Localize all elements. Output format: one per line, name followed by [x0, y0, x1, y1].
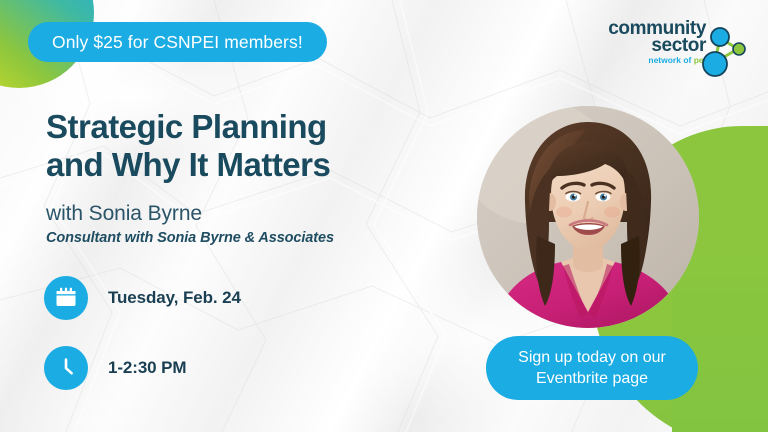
calendar-icon — [44, 276, 88, 320]
logo-network-of-text: network of — [648, 55, 693, 65]
speaker-portrait-photo — [477, 106, 699, 328]
page-title: Strategic Planning and Why It Matters — [46, 108, 446, 185]
csnpei-logo: community sector network of pei — [598, 20, 750, 82]
clock-icon — [44, 346, 88, 390]
cta-line-1: Sign up today on our — [518, 347, 666, 368]
event-date-text: Tuesday, Feb. 24 — [108, 288, 241, 308]
headline-line-2: and Why It Matters — [46, 146, 446, 184]
price-badge-label: Only $25 for CSNPEI members! — [52, 32, 303, 53]
speaker-name: with Sonia Byrne — [46, 202, 202, 226]
network-nodes-icon — [696, 22, 750, 80]
price-badge: Only $25 for CSNPEI members! — [28, 22, 327, 62]
logo-line-network: network of pei — [598, 57, 706, 65]
logo-wordmark: community sector network of pei — [598, 20, 706, 65]
event-promo-poster: Only $25 for CSNPEI members! community s… — [0, 0, 768, 432]
logo-line-sector: sector — [598, 37, 706, 54]
headline-line-1: Strategic Planning — [46, 108, 446, 146]
event-time-text: 1-2:30 PM — [108, 358, 186, 378]
event-time-row: 1-2:30 PM — [44, 346, 186, 390]
speaker-role: Consultant with Sonia Byrne & Associates — [46, 230, 334, 246]
signup-cta-button[interactable]: Sign up today on our Eventbrite page — [486, 336, 698, 400]
event-date-row: Tuesday, Feb. 24 — [44, 276, 241, 320]
cta-line-2: Eventbrite page — [536, 368, 648, 389]
